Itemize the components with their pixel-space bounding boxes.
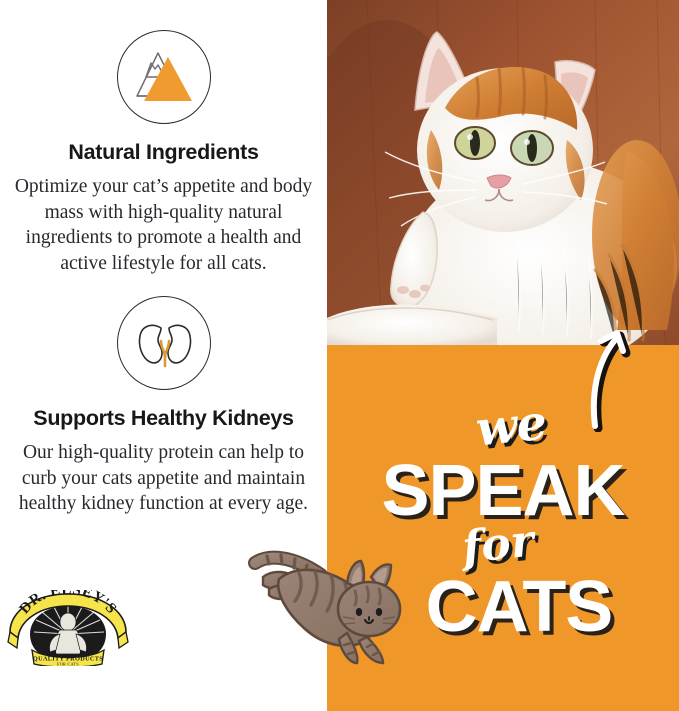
dr-elseys-logo-mark: DR. ELSEY'S QUALITY PRODUCTS FOR CATS	[6, 590, 130, 666]
cat-photo-illustration	[327, 0, 679, 345]
mountain-icon	[118, 31, 212, 125]
mountain-icon-circle	[117, 30, 211, 124]
feature-body: Optimize your cat’s appetite and body ma…	[0, 174, 327, 276]
orange-white-cat-photo	[327, 0, 679, 345]
slogan-word-cats: CATS	[343, 566, 679, 648]
logo-sub-tagline: FOR CATS	[57, 662, 79, 667]
feature-body: Our high-quality protein can help to cur…	[0, 440, 327, 517]
kidneys-icon	[118, 297, 212, 391]
feature-natural-ingredients: Natural Ingredients Optimize your cat’s …	[0, 30, 327, 276]
feature-heading: Supports Healthy Kidneys	[0, 406, 327, 431]
dr-elseys-logo: DR. ELSEY'S QUALITY PRODUCTS FOR CATS	[6, 590, 130, 666]
slogan-group: we SPEAK for CATS	[327, 345, 679, 711]
feature-supports-healthy-kidneys: Supports Healthy Kidneys Our high-qualit…	[0, 296, 327, 517]
kidneys-icon-circle	[117, 296, 211, 390]
left-info-column: Natural Ingredients Optimize your cat’s …	[0, 0, 327, 711]
feature-heading: Natural Ingredients	[0, 140, 327, 165]
